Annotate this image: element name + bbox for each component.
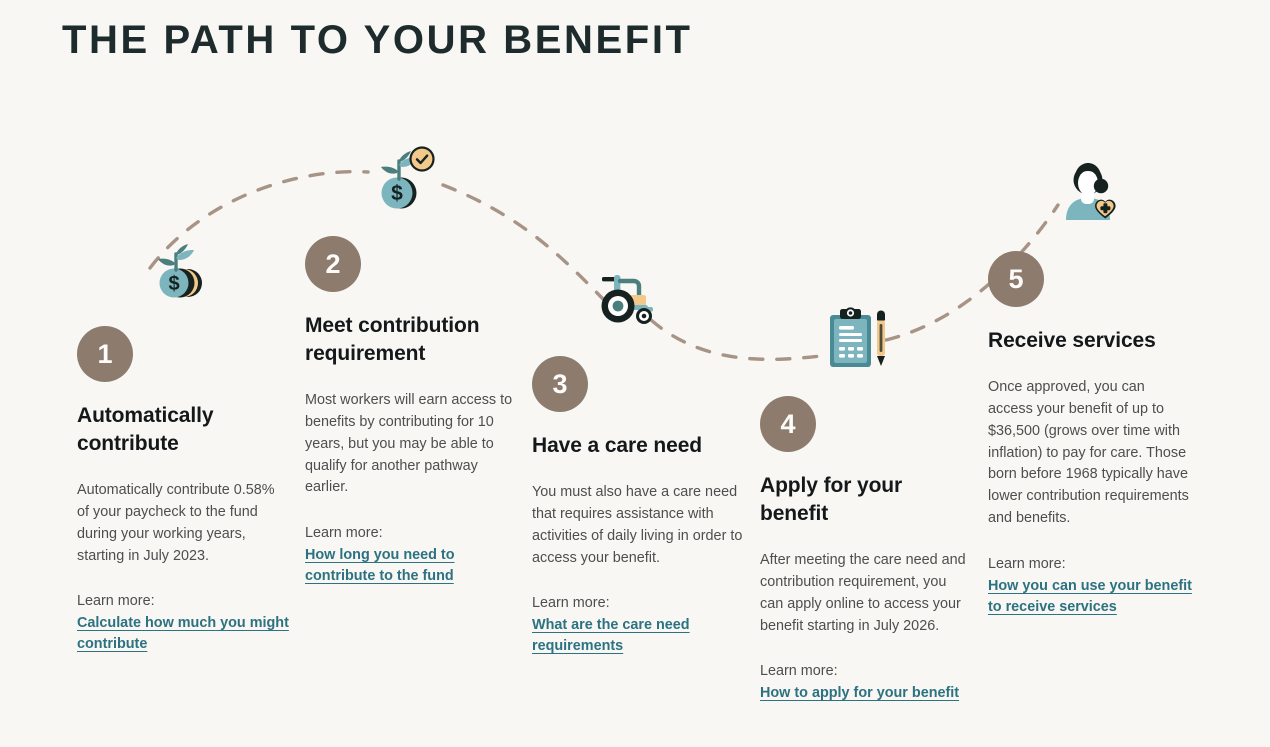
svg-text:$: $: [168, 273, 179, 295]
step-body-4: After meeting the care need and contribu…: [760, 550, 972, 638]
wheelchair-icon: [596, 270, 664, 328]
step-body-3: You must also have a care need that requ…: [532, 482, 744, 570]
step-4: 4 Apply for your benefit After meeting t…: [760, 396, 972, 704]
step-number-3: 3: [552, 371, 567, 398]
step-body-2: Most workers will earn access to benefit…: [305, 390, 517, 499]
step-body-1: Automatically contribute 0.58% of your p…: [77, 480, 289, 568]
step-body-5: Once approved, you can access your benef…: [988, 377, 1193, 530]
step-number-2: 2: [325, 251, 340, 278]
step-2: 2 Meet contribution requirement Most wor…: [305, 236, 517, 587]
learn-more-link-5[interactable]: How you can use your benefit to receive …: [988, 576, 1193, 618]
step-5: 5 Receive services Once approved, you ca…: [988, 251, 1193, 618]
step-heading-4: Apply for your benefit: [760, 472, 972, 528]
learn-more-label-1: Learn more:: [77, 591, 289, 613]
step-number-badge-3: 3: [532, 356, 588, 412]
money-plant-check-icon: $: [371, 143, 437, 209]
step-heading-2: Meet contribution requirement: [305, 312, 517, 368]
step-heading-5: Receive services: [988, 327, 1193, 355]
learn-more-link-1[interactable]: Calculate how much you might contribute: [77, 613, 289, 655]
money-plant-icon: $: [146, 236, 210, 300]
step-number-badge-4: 4: [760, 396, 816, 452]
step-heading-3: Have a care need: [532, 432, 744, 460]
learn-more-label-4: Learn more:: [760, 661, 972, 683]
learn-more-label-2: Learn more:: [305, 523, 517, 545]
learn-more-link-3[interactable]: What are the care need requirements: [532, 615, 744, 657]
step-number-1: 1: [97, 341, 112, 368]
step-3: 3 Have a care need You must also have a …: [532, 356, 744, 657]
learn-more-link-2[interactable]: How long you need to contribute to the f…: [305, 545, 517, 587]
learn-more-label-3: Learn more:: [532, 593, 744, 615]
step-number-5: 5: [1008, 266, 1023, 293]
learn-more-link-4[interactable]: How to apply for your benefit: [760, 683, 959, 704]
step-number-4: 4: [780, 411, 795, 438]
page-title: THE PATH TO YOUR BENEFIT: [62, 18, 693, 63]
step-heading-1: Automatically contribute: [77, 402, 289, 458]
caregiver-heart-icon: [1057, 160, 1119, 226]
infographic-canvas: THE PATH TO YOUR BENEFIT $ $: [0, 0, 1270, 747]
step-number-badge-1: 1: [77, 326, 133, 382]
step-number-badge-5: 5: [988, 251, 1044, 307]
svg-text:$: $: [391, 182, 403, 205]
clipboard-pen-icon: [827, 306, 889, 370]
learn-more-label-5: Learn more:: [988, 554, 1193, 576]
step-1: 1 Automatically contribute Automatically…: [77, 326, 289, 655]
step-number-badge-2: 2: [305, 236, 361, 292]
